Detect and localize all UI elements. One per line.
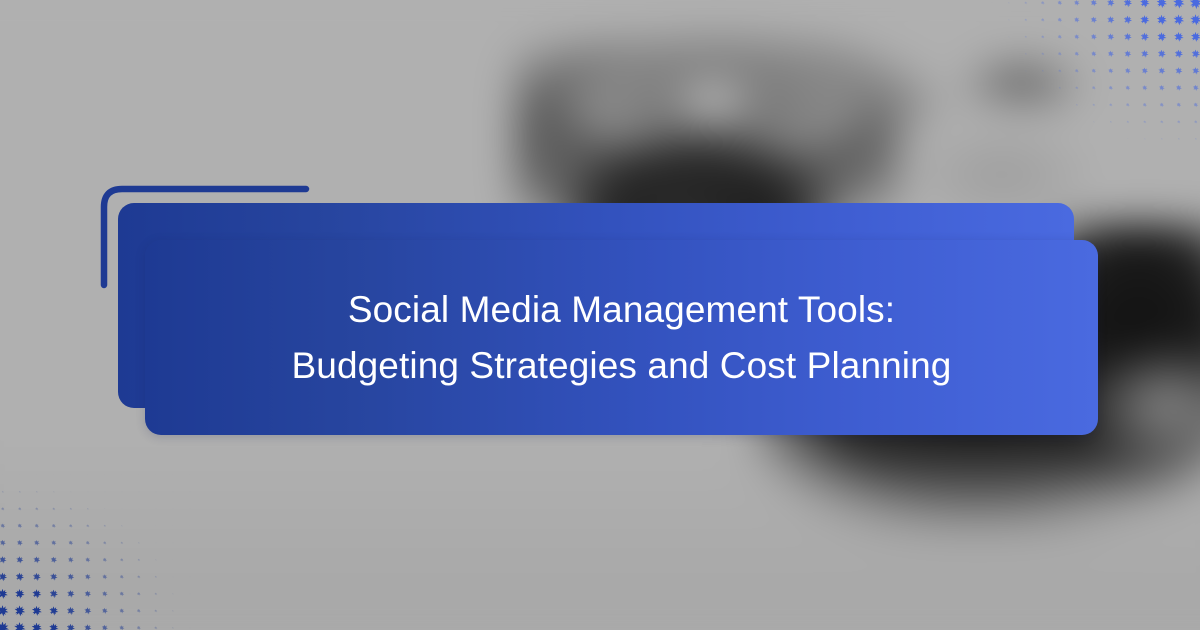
halftone-star-dot <box>147 517 164 534</box>
halftone-star-dot <box>164 534 181 551</box>
halftone-star-dot <box>113 585 130 602</box>
halftone-dot-row <box>0 517 198 534</box>
halftone-star-dot <box>1085 11 1102 28</box>
halftone-star-dot <box>79 602 96 619</box>
halftone-star-dot <box>1153 28 1170 45</box>
halftone-star-dot <box>1153 96 1170 113</box>
halftone-star-dot <box>181 551 198 568</box>
halftone-star-dot <box>130 534 147 551</box>
halftone-star-dot <box>1187 45 1200 62</box>
halftone-star-dot <box>1068 11 1085 28</box>
halftone-star-dot <box>1187 113 1200 130</box>
halftone-star-dot <box>1187 79 1200 96</box>
halftone-star-dot <box>62 483 79 500</box>
halftone-dot-row <box>0 466 198 483</box>
halftone-dot-row <box>0 585 198 602</box>
halftone-star-dot <box>181 483 198 500</box>
halftone-star-dot <box>1102 96 1119 113</box>
halftone-star-dot <box>1170 147 1187 164</box>
halftone-dot-row <box>0 568 198 585</box>
halftone-star-dot <box>0 585 11 602</box>
halftone-star-dot <box>983 0 1000 11</box>
halftone-star-dot <box>181 585 198 602</box>
halftone-star-dot <box>1017 96 1034 113</box>
halftone-star-dot <box>28 602 45 619</box>
halftone-star-dot <box>147 483 164 500</box>
halftone-star-dot <box>983 62 1000 79</box>
banner-stage: Social Media Management Tools: Budgeting… <box>0 0 1200 630</box>
halftone-star-dot <box>113 500 130 517</box>
halftone-star-dot <box>62 534 79 551</box>
halftone-star-dot <box>164 602 181 619</box>
halftone-star-dot <box>1051 11 1068 28</box>
halftone-star-dot <box>1136 62 1153 79</box>
halftone-star-dot <box>1170 79 1187 96</box>
halftone-star-dot <box>113 568 130 585</box>
halftone-star-dot <box>1034 113 1051 130</box>
halftone-star-dot <box>1119 11 1136 28</box>
halftone-star-dot <box>1119 147 1136 164</box>
halftone-star-dot <box>45 568 62 585</box>
halftone-star-dot <box>96 551 113 568</box>
halftone-dot-row <box>0 619 198 630</box>
halftone-star-dot <box>0 466 11 483</box>
halftone-dot-row <box>0 602 198 619</box>
halftone-star-dot <box>1017 113 1034 130</box>
halftone-star-dot <box>1119 79 1136 96</box>
halftone-star-dot <box>1017 147 1034 164</box>
halftone-star-dot <box>1153 147 1170 164</box>
halftone-star-dot <box>1170 113 1187 130</box>
halftone-star-dot <box>1187 11 1200 28</box>
halftone-star-dot <box>28 517 45 534</box>
halftone-star-dot <box>1119 130 1136 147</box>
halftone-star-dot <box>45 534 62 551</box>
halftone-star-dot <box>79 619 96 630</box>
halftone-star-dot <box>983 147 1000 164</box>
halftone-star-dot <box>0 619 11 630</box>
halftone-star-dot <box>113 551 130 568</box>
title-container: Social Media Management Tools: Budgeting… <box>145 240 1098 435</box>
camera-highlight <box>665 72 762 131</box>
halftone-star-dot <box>147 619 164 630</box>
halftone-star-dot <box>1034 147 1051 164</box>
halftone-star-dot <box>45 500 62 517</box>
halftone-star-dot <box>28 585 45 602</box>
halftone-star-dot <box>0 551 11 568</box>
halftone-star-dot <box>96 568 113 585</box>
halftone-star-dot <box>11 466 28 483</box>
halftone-star-dot <box>1153 45 1170 62</box>
halftone-star-dot <box>147 568 164 585</box>
halftone-dots-top-right <box>983 0 1200 164</box>
halftone-star-dot <box>147 602 164 619</box>
halftone-star-dot <box>164 483 181 500</box>
halftone-star-dot <box>96 517 113 534</box>
halftone-star-dot <box>1068 28 1085 45</box>
halftone-star-dot <box>1153 79 1170 96</box>
halftone-star-dot <box>983 45 1000 62</box>
halftone-star-dot <box>45 483 62 500</box>
halftone-star-dot <box>1170 96 1187 113</box>
halftone-star-dot <box>1068 113 1085 130</box>
halftone-star-dot <box>1051 79 1068 96</box>
halftone-star-dot <box>130 500 147 517</box>
halftone-star-dot <box>45 585 62 602</box>
halftone-star-dot <box>1187 147 1200 164</box>
halftone-star-dot <box>0 568 11 585</box>
halftone-star-dot <box>1170 62 1187 79</box>
halftone-star-dot <box>1068 62 1085 79</box>
halftone-star-dot <box>79 466 96 483</box>
halftone-star-dot <box>1187 28 1200 45</box>
halftone-star-dot <box>1153 113 1170 130</box>
halftone-star-dot <box>147 585 164 602</box>
halftone-star-dot <box>1085 28 1102 45</box>
halftone-star-dot <box>62 551 79 568</box>
halftone-star-dot <box>1085 113 1102 130</box>
halftone-star-dot <box>79 585 96 602</box>
halftone-star-dot <box>1068 130 1085 147</box>
halftone-star-dot <box>11 602 28 619</box>
halftone-star-dot <box>1136 79 1153 96</box>
halftone-star-dot <box>164 568 181 585</box>
halftone-dot-row <box>983 11 1200 28</box>
halftone-star-dot <box>96 534 113 551</box>
halftone-star-dot <box>1102 113 1119 130</box>
halftone-star-dot <box>181 517 198 534</box>
halftone-star-dot <box>983 28 1000 45</box>
halftone-star-dot <box>113 466 130 483</box>
halftone-star-dot <box>983 79 1000 96</box>
halftone-star-dot <box>1119 113 1136 130</box>
halftone-star-dot <box>11 517 28 534</box>
halftone-star-dot <box>1068 45 1085 62</box>
halftone-star-dot <box>1136 45 1153 62</box>
halftone-star-dot <box>11 483 28 500</box>
halftone-star-dot <box>1051 45 1068 62</box>
halftone-star-dot <box>1068 96 1085 113</box>
halftone-star-dot <box>1051 147 1068 164</box>
halftone-star-dot <box>147 466 164 483</box>
halftone-star-dot <box>1034 28 1051 45</box>
halftone-star-dot <box>11 500 28 517</box>
halftone-star-dot <box>181 466 198 483</box>
halftone-star-dot <box>96 585 113 602</box>
halftone-dot-row <box>983 45 1200 62</box>
halftone-star-dot <box>164 585 181 602</box>
halftone-star-dot <box>79 534 96 551</box>
halftone-star-dot <box>1119 45 1136 62</box>
halftone-star-dot <box>113 619 130 630</box>
halftone-star-dot <box>1000 28 1017 45</box>
halftone-star-dot <box>1000 130 1017 147</box>
halftone-star-dot <box>164 619 181 630</box>
halftone-star-dot <box>79 568 96 585</box>
halftone-star-dot <box>1034 11 1051 28</box>
halftone-star-dot <box>1085 79 1102 96</box>
halftone-star-dot <box>1170 130 1187 147</box>
halftone-star-dot <box>1068 79 1085 96</box>
halftone-dot-row <box>0 483 198 500</box>
halftone-star-dot <box>1034 79 1051 96</box>
halftone-star-dot <box>1102 0 1119 11</box>
halftone-star-dot <box>1136 11 1153 28</box>
halftone-star-dot <box>1102 45 1119 62</box>
halftone-star-dot <box>11 568 28 585</box>
halftone-star-dot <box>130 585 147 602</box>
halftone-star-dot <box>45 466 62 483</box>
halftone-star-dot <box>1102 130 1119 147</box>
halftone-star-dot <box>28 500 45 517</box>
halftone-star-dot <box>164 466 181 483</box>
halftone-star-dot <box>130 551 147 568</box>
halftone-star-dot <box>1085 45 1102 62</box>
halftone-star-dot <box>983 113 1000 130</box>
halftone-star-dot <box>164 551 181 568</box>
halftone-star-dot <box>96 500 113 517</box>
halftone-star-dot <box>1102 79 1119 96</box>
halftone-star-dot <box>130 483 147 500</box>
halftone-star-dot <box>28 483 45 500</box>
halftone-star-dot <box>62 585 79 602</box>
halftone-star-dot <box>181 534 198 551</box>
halftone-star-dot <box>1136 96 1153 113</box>
halftone-star-dot <box>96 602 113 619</box>
halftone-star-dot <box>1000 79 1017 96</box>
halftone-star-dot <box>1017 11 1034 28</box>
halftone-star-dot <box>1017 0 1034 11</box>
halftone-star-dot <box>96 466 113 483</box>
halftone-star-dot <box>62 568 79 585</box>
halftone-star-dot <box>1102 11 1119 28</box>
halftone-star-dot <box>45 619 62 630</box>
halftone-star-dot <box>1136 113 1153 130</box>
halftone-star-dot <box>1000 45 1017 62</box>
halftone-star-dot <box>62 517 79 534</box>
halftone-star-dot <box>1153 62 1170 79</box>
halftone-star-dot <box>983 11 1000 28</box>
halftone-star-dot <box>1085 0 1102 11</box>
halftone-star-dot <box>1051 130 1068 147</box>
halftone-star-dot <box>1119 0 1136 11</box>
halftone-star-dot <box>1000 62 1017 79</box>
halftone-star-dot <box>113 602 130 619</box>
halftone-star-dot <box>1017 45 1034 62</box>
halftone-star-dot <box>1136 130 1153 147</box>
halftone-star-dot <box>1170 28 1187 45</box>
halftone-star-dot <box>147 534 164 551</box>
halftone-star-dot <box>62 619 79 630</box>
halftone-star-dot <box>1170 45 1187 62</box>
halftone-star-dot <box>1085 130 1102 147</box>
halftone-star-dot <box>1034 45 1051 62</box>
halftone-dot-row <box>0 500 198 517</box>
halftone-star-dot <box>1034 96 1051 113</box>
halftone-star-dot <box>1119 28 1136 45</box>
halftone-star-dot <box>28 619 45 630</box>
halftone-star-dot <box>1136 28 1153 45</box>
halftone-star-dot <box>0 517 11 534</box>
halftone-star-dot <box>1119 96 1136 113</box>
halftone-star-dot <box>164 517 181 534</box>
halftone-dot-row <box>983 0 1200 11</box>
halftone-star-dot <box>1119 62 1136 79</box>
halftone-dot-row <box>0 534 198 551</box>
halftone-star-dot <box>1034 62 1051 79</box>
halftone-star-dot <box>1051 96 1068 113</box>
halftone-star-dot <box>113 534 130 551</box>
halftone-star-dot <box>1000 0 1017 11</box>
halftone-star-dot <box>983 96 1000 113</box>
halftone-star-dot <box>11 551 28 568</box>
halftone-dots-bottom-left <box>0 466 198 630</box>
halftone-star-dot <box>130 568 147 585</box>
halftone-star-dot <box>1000 11 1017 28</box>
halftone-star-dot <box>45 517 62 534</box>
halftone-star-dot <box>181 568 198 585</box>
halftone-star-dot <box>1051 28 1068 45</box>
halftone-dot-row <box>983 28 1200 45</box>
halftone-star-dot <box>181 500 198 517</box>
halftone-star-dot <box>1085 62 1102 79</box>
halftone-star-dot <box>1085 96 1102 113</box>
halftone-dot-row <box>983 96 1200 113</box>
halftone-star-dot <box>1017 28 1034 45</box>
page-title: Social Media Management Tools: Budgeting… <box>266 282 978 393</box>
halftone-star-dot <box>1068 147 1085 164</box>
halftone-star-dot <box>0 483 11 500</box>
halftone-star-dot <box>130 619 147 630</box>
halftone-star-dot <box>130 466 147 483</box>
halftone-star-dot <box>62 602 79 619</box>
halftone-star-dot <box>147 551 164 568</box>
halftone-star-dot <box>11 585 28 602</box>
halftone-dot-row <box>983 130 1200 147</box>
halftone-dot-row <box>983 147 1200 164</box>
halftone-star-dot <box>79 500 96 517</box>
halftone-star-dot <box>181 602 198 619</box>
halftone-star-dot <box>1170 0 1187 11</box>
halftone-star-dot <box>1187 62 1200 79</box>
halftone-star-dot <box>130 602 147 619</box>
halftone-dot-row <box>0 551 198 568</box>
halftone-star-dot <box>1085 147 1102 164</box>
halftone-star-dot <box>96 483 113 500</box>
halftone-star-dot <box>181 619 198 630</box>
halftone-star-dot <box>28 551 45 568</box>
halftone-star-dot <box>45 551 62 568</box>
halftone-star-dot <box>1051 0 1068 11</box>
halftone-star-dot <box>11 534 28 551</box>
halftone-dot-row <box>983 62 1200 79</box>
halftone-star-dot <box>1017 62 1034 79</box>
halftone-star-dot <box>0 500 11 517</box>
halftone-star-dot <box>1187 0 1200 11</box>
halftone-star-dot <box>96 619 113 630</box>
halftone-dot-row <box>983 79 1200 96</box>
halftone-star-dot <box>1187 96 1200 113</box>
halftone-star-dot <box>28 534 45 551</box>
halftone-star-dot <box>79 551 96 568</box>
halftone-star-dot <box>1034 0 1051 11</box>
halftone-star-dot <box>62 466 79 483</box>
halftone-star-dot <box>1102 147 1119 164</box>
halftone-star-dot <box>1153 0 1170 11</box>
halftone-star-dot <box>1051 62 1068 79</box>
halftone-star-dot <box>1153 11 1170 28</box>
halftone-star-dot <box>1000 113 1017 130</box>
halftone-star-dot <box>1153 130 1170 147</box>
halftone-star-dot <box>45 602 62 619</box>
halftone-star-dot <box>1102 62 1119 79</box>
halftone-star-dot <box>164 500 181 517</box>
halftone-star-dot <box>1170 11 1187 28</box>
halftone-star-dot <box>0 534 11 551</box>
halftone-star-dot <box>28 568 45 585</box>
halftone-star-dot <box>1136 0 1153 11</box>
halftone-star-dot <box>1187 130 1200 147</box>
halftone-star-dot <box>1000 96 1017 113</box>
halftone-star-dot <box>1051 113 1068 130</box>
halftone-star-dot <box>1017 79 1034 96</box>
halftone-star-dot <box>0 602 11 619</box>
halftone-dot-row <box>983 113 1200 130</box>
halftone-star-dot <box>79 483 96 500</box>
halftone-star-dot <box>113 517 130 534</box>
halftone-star-dot <box>1017 130 1034 147</box>
halftone-star-dot <box>79 517 96 534</box>
halftone-star-dot <box>147 500 164 517</box>
halftone-star-dot <box>1102 28 1119 45</box>
halftone-star-dot <box>1000 147 1017 164</box>
halftone-star-dot <box>1068 0 1085 11</box>
halftone-star-dot <box>62 500 79 517</box>
halftone-star-dot <box>1136 147 1153 164</box>
halftone-star-dot <box>28 466 45 483</box>
halftone-star-dot <box>1034 130 1051 147</box>
halftone-star-dot <box>11 619 28 630</box>
halftone-star-dot <box>130 517 147 534</box>
halftone-star-dot <box>113 483 130 500</box>
halftone-star-dot <box>983 130 1000 147</box>
